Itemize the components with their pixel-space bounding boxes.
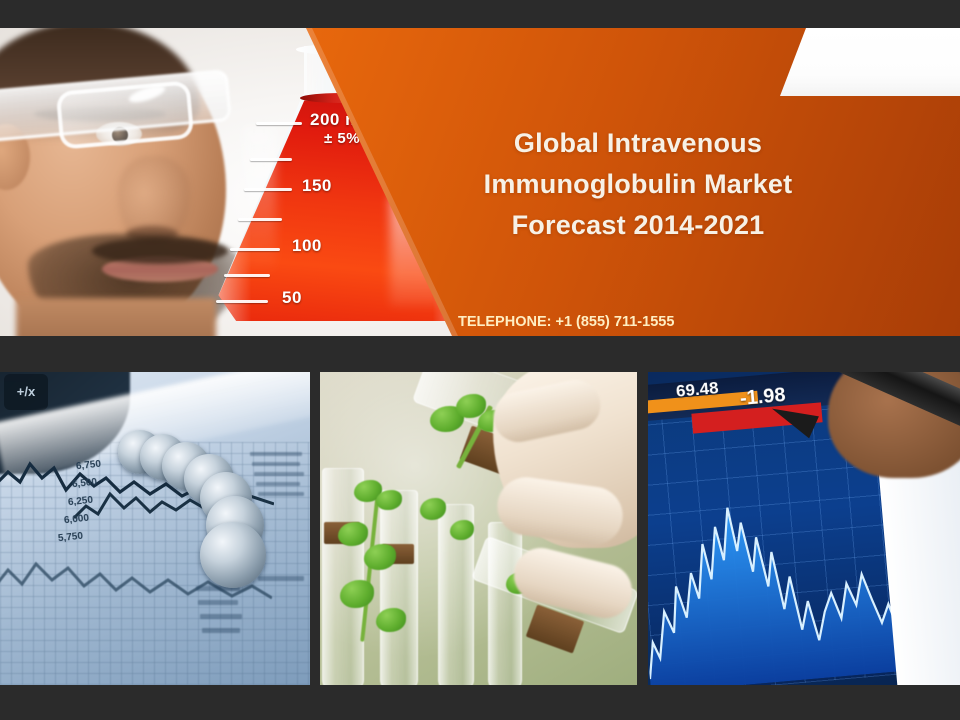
scientist-neck: [16, 298, 216, 336]
title-line-1: Global Intravenous: [398, 123, 878, 164]
photo-strip: +/x 6,750 6,500 6,250 6,000 5,750: [0, 372, 960, 685]
contact-block: TELEPHONE: +1 (855) 711-1555 E-MAIL: hel…: [458, 312, 693, 336]
test-tube: [380, 490, 418, 685]
flask-label-150: 150: [302, 176, 332, 196]
news-text-line: [258, 576, 304, 581]
news-text-line: [252, 462, 300, 466]
flask-tick-75: [224, 274, 270, 277]
test-tube: [322, 468, 364, 685]
stock-area-chart: [648, 471, 912, 685]
test-tubes-seedlings-photo: [320, 372, 637, 685]
title-line-2: Immunoglobulin Market: [398, 164, 878, 205]
news-text-line: [198, 600, 238, 605]
flask-tick-150: [244, 188, 292, 191]
logo-plate[interactable]: Researchbeam: [780, 28, 960, 96]
finance-coins-photo: +/x 6,750 6,500 6,250 6,000 5,750: [0, 372, 310, 685]
hero-section: 200 ml ± 5% 150 100 50: [0, 28, 960, 336]
safety-goggles-lens: [56, 80, 195, 149]
top-dark-band: [0, 0, 960, 28]
bottom-dark-band: [0, 685, 960, 720]
flask-tick-100: [230, 248, 280, 251]
flask-tick-175: [250, 158, 292, 161]
news-text-line: [200, 614, 242, 619]
report-cover-slide: 200 ml ± 5% 150 100 50: [0, 0, 960, 720]
news-text-line: [254, 472, 304, 476]
flask-tick-125: [238, 218, 282, 221]
flask-label-tolerance: ± 5%: [324, 130, 360, 147]
page-title: Global Intravenous Immunoglobulin Market…: [398, 123, 878, 246]
calculator-key: +/x: [4, 374, 48, 410]
stock-screen-pen-photo: 69.48 -1.98: [648, 372, 960, 685]
flask-tick-200: [256, 122, 302, 125]
news-text-line: [256, 482, 300, 486]
flask-label-50: 50: [282, 288, 302, 308]
coin: [200, 522, 266, 588]
title-line-3: Forecast 2014-2021: [398, 205, 878, 246]
telephone-text: TELEPHONE: +1 (855) 711-1555: [458, 312, 693, 334]
news-text-line: [258, 492, 304, 496]
flask-tick-50: [216, 300, 268, 303]
flask-label-100: 100: [292, 236, 322, 256]
middle-dark-band: [0, 336, 960, 372]
news-text-line: [250, 452, 302, 456]
ticker-value: 69.48: [675, 378, 719, 402]
news-text-line: [202, 628, 240, 633]
